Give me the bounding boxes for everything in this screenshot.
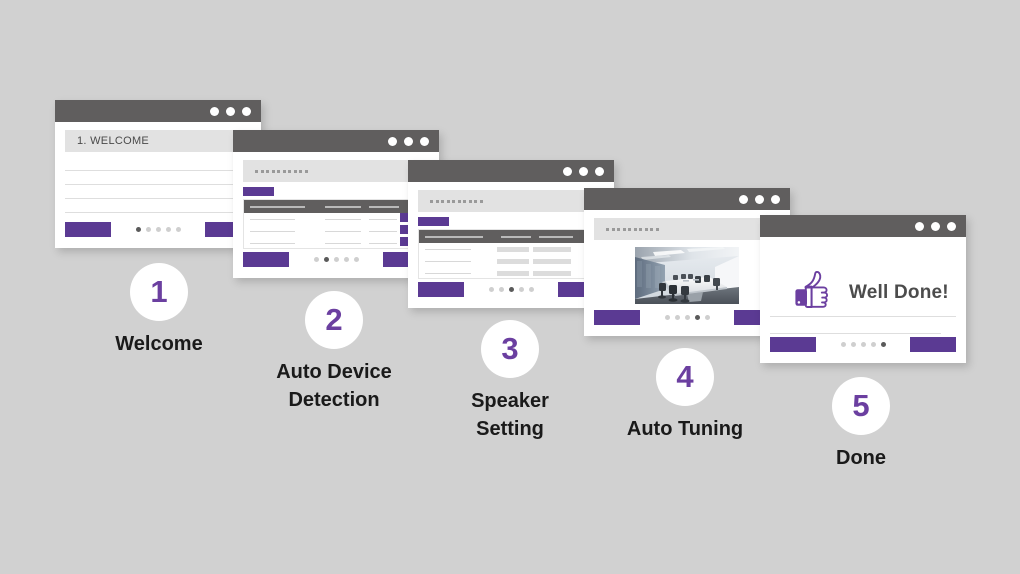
cell-bar — [533, 259, 571, 264]
step-label: Welcome — [79, 330, 239, 358]
cell-bar — [497, 271, 529, 276]
wizard-flow-illustration: 1. WELCOME — [0, 0, 1020, 574]
column-header-placeholder — [539, 236, 573, 238]
step-4-auto-tuning: 4 Auto Tuning — [655, 348, 715, 443]
well-done-banner: Well Done! — [793, 270, 949, 315]
step-label: Done — [801, 444, 921, 472]
step-5-done: 5 Done — [831, 377, 891, 472]
panel-header — [594, 218, 780, 240]
titlebar-dot-icon[interactable] — [210, 107, 219, 116]
window-welcome[interactable]: 1. WELCOME — [55, 100, 261, 248]
panel-header: 1. WELCOME — [65, 130, 251, 152]
window-footer — [760, 333, 966, 363]
masked-char — [441, 200, 444, 203]
content-rule — [65, 198, 245, 199]
step-label: Auto Device Detection — [244, 358, 424, 414]
cell-placeholder — [369, 219, 397, 220]
table-row[interactable] — [419, 255, 603, 267]
titlebar-dot-icon[interactable] — [579, 167, 588, 176]
masked-char — [645, 228, 648, 231]
pagination-dot[interactable] — [881, 342, 886, 347]
pagination-dots[interactable] — [464, 287, 558, 292]
column-header-placeholder — [250, 206, 305, 208]
titlebar-dot-icon[interactable] — [931, 222, 940, 231]
titlebar-dot-icon[interactable] — [404, 137, 413, 146]
step-label: Auto Tuning — [600, 415, 770, 443]
column-header-placeholder — [501, 236, 531, 238]
speaker-table — [418, 229, 604, 279]
step-label: Speaker Setting — [435, 387, 585, 443]
back-button[interactable] — [418, 282, 464, 297]
pagination-dots[interactable] — [111, 227, 205, 232]
speaker-table-header — [419, 230, 603, 243]
masked-char — [628, 228, 631, 231]
step-3-speaker-setting: 3 Speaker Setting — [480, 320, 540, 443]
masked-char — [261, 170, 264, 173]
cell-placeholder — [250, 231, 295, 232]
titlebar-dot-icon[interactable] — [595, 167, 604, 176]
masked-char — [266, 170, 269, 173]
pagination-dot[interactable] — [705, 315, 710, 320]
pagination-dot[interactable] — [509, 287, 514, 292]
back-button[interactable] — [594, 310, 640, 325]
pagination-dots[interactable] — [640, 315, 734, 320]
masked-char — [294, 170, 297, 173]
cell-placeholder — [325, 231, 361, 232]
pagination-dot[interactable] — [344, 257, 349, 262]
pagination-dot[interactable] — [146, 227, 151, 232]
column-header-placeholder — [425, 236, 483, 238]
masked-char — [656, 228, 659, 231]
step-number-circle: 1 — [130, 263, 188, 321]
step-2-auto-device-detection: 2 Auto Device Detection — [304, 291, 364, 414]
pagination-dot[interactable] — [489, 287, 494, 292]
cell-placeholder — [250, 219, 295, 220]
cell-placeholder — [369, 243, 397, 244]
window-titlebar — [408, 160, 614, 182]
back-button[interactable] — [770, 337, 816, 352]
pagination-dot[interactable] — [176, 227, 181, 232]
pagination-dot[interactable] — [354, 257, 359, 262]
pagination-dot[interactable] — [334, 257, 339, 262]
window-footer — [55, 218, 261, 248]
pagination-dot[interactable] — [851, 342, 856, 347]
masked-char — [617, 228, 620, 231]
cell-placeholder — [369, 231, 397, 232]
window-body: Well Done! — [760, 237, 966, 363]
titlebar-dot-icon[interactable] — [420, 137, 429, 146]
step-number-circle: 4 — [656, 348, 714, 406]
masked-char — [436, 200, 439, 203]
masked-char — [299, 170, 302, 173]
masked-char — [447, 200, 450, 203]
pagination-dot[interactable] — [871, 342, 876, 347]
cell-bar — [533, 271, 571, 276]
masked-char — [639, 228, 642, 231]
content-rule — [65, 184, 245, 185]
titlebar-dot-icon[interactable] — [739, 195, 748, 204]
device-table-header — [244, 200, 428, 213]
pagination-dot[interactable] — [841, 342, 846, 347]
cell-placeholder — [325, 243, 361, 244]
masked-char — [650, 228, 653, 231]
titlebar-dot-icon[interactable] — [947, 222, 956, 231]
scan-button[interactable] — [243, 187, 274, 196]
pagination-dot[interactable] — [499, 287, 504, 292]
titlebar-dot-icon[interactable] — [915, 222, 924, 231]
column-header-placeholder — [369, 206, 399, 208]
masked-char — [283, 170, 286, 173]
pagination-dot[interactable] — [529, 287, 534, 292]
cell-placeholder — [425, 249, 471, 250]
conference-room-photo — [635, 247, 739, 304]
window-titlebar — [584, 188, 790, 210]
pagination-dot[interactable] — [665, 315, 670, 320]
pagination-dots[interactable] — [289, 257, 383, 262]
apply-button[interactable] — [418, 217, 449, 226]
step-number-circle: 3 — [481, 320, 539, 378]
titlebar-dot-icon[interactable] — [226, 107, 235, 116]
column-header-placeholder — [325, 206, 361, 208]
next-button[interactable] — [910, 337, 956, 352]
masked-char — [469, 200, 472, 203]
pagination-dot[interactable] — [314, 257, 319, 262]
thumbs-up-icon — [793, 270, 839, 315]
step-number-circle: 5 — [832, 377, 890, 435]
table-row[interactable] — [419, 243, 603, 255]
back-button[interactable] — [65, 222, 111, 237]
cell-placeholder — [325, 219, 361, 220]
panel-title: 1. WELCOME — [65, 135, 149, 147]
window-done[interactable]: Well Done! — [760, 215, 966, 363]
titlebar-dot-icon[interactable] — [755, 195, 764, 204]
masked-char — [623, 228, 626, 231]
masked-char — [480, 200, 483, 203]
masked-char — [606, 228, 609, 231]
masked-char — [452, 200, 455, 203]
masked-char — [458, 200, 461, 203]
titlebar-dot-icon[interactable] — [388, 137, 397, 146]
window-titlebar — [760, 215, 966, 237]
content-rule — [770, 316, 956, 317]
titlebar-dot-icon[interactable] — [563, 167, 572, 176]
titlebar-dot-icon[interactable] — [771, 195, 780, 204]
pagination-dots[interactable] — [816, 342, 910, 347]
cell-bar — [497, 259, 529, 264]
conference-room-image — [635, 247, 739, 304]
masked-char — [288, 170, 291, 173]
pagination-dot[interactable] — [685, 315, 690, 320]
cell-bar — [497, 247, 529, 252]
step-1-welcome: 1 Welcome — [129, 263, 189, 358]
masked-char — [277, 170, 280, 173]
masked-char — [634, 228, 637, 231]
window-titlebar — [55, 100, 261, 122]
pagination-dot[interactable] — [156, 227, 161, 232]
well-done-text: Well Done! — [849, 282, 949, 304]
masked-char — [255, 170, 258, 173]
cell-placeholder — [425, 261, 471, 262]
step-number-circle: 2 — [305, 291, 363, 349]
masked-char — [272, 170, 275, 173]
pagination-dot[interactable] — [861, 342, 866, 347]
window-titlebar — [233, 130, 439, 152]
content-rule — [65, 170, 245, 171]
pagination-dot[interactable] — [324, 257, 329, 262]
cell-placeholder — [250, 243, 295, 244]
pagination-dot[interactable] — [519, 287, 524, 292]
masked-char — [305, 170, 308, 173]
masked-char — [463, 200, 466, 203]
masked-char — [474, 200, 477, 203]
cell-bar — [533, 247, 571, 252]
pagination-dot[interactable] — [136, 227, 141, 232]
titlebar-dot-icon[interactable] — [242, 107, 251, 116]
cell-placeholder — [425, 273, 471, 274]
content-rule — [65, 212, 245, 213]
masked-char — [430, 200, 433, 203]
panel-header — [418, 190, 604, 212]
pagination-dot[interactable] — [675, 315, 680, 320]
window-body: 1. WELCOME — [55, 122, 261, 248]
back-button[interactable] — [243, 252, 289, 267]
pagination-dot[interactable] — [166, 227, 171, 232]
masked-char — [612, 228, 615, 231]
panel-header — [243, 160, 429, 182]
pagination-dot[interactable] — [695, 315, 700, 320]
